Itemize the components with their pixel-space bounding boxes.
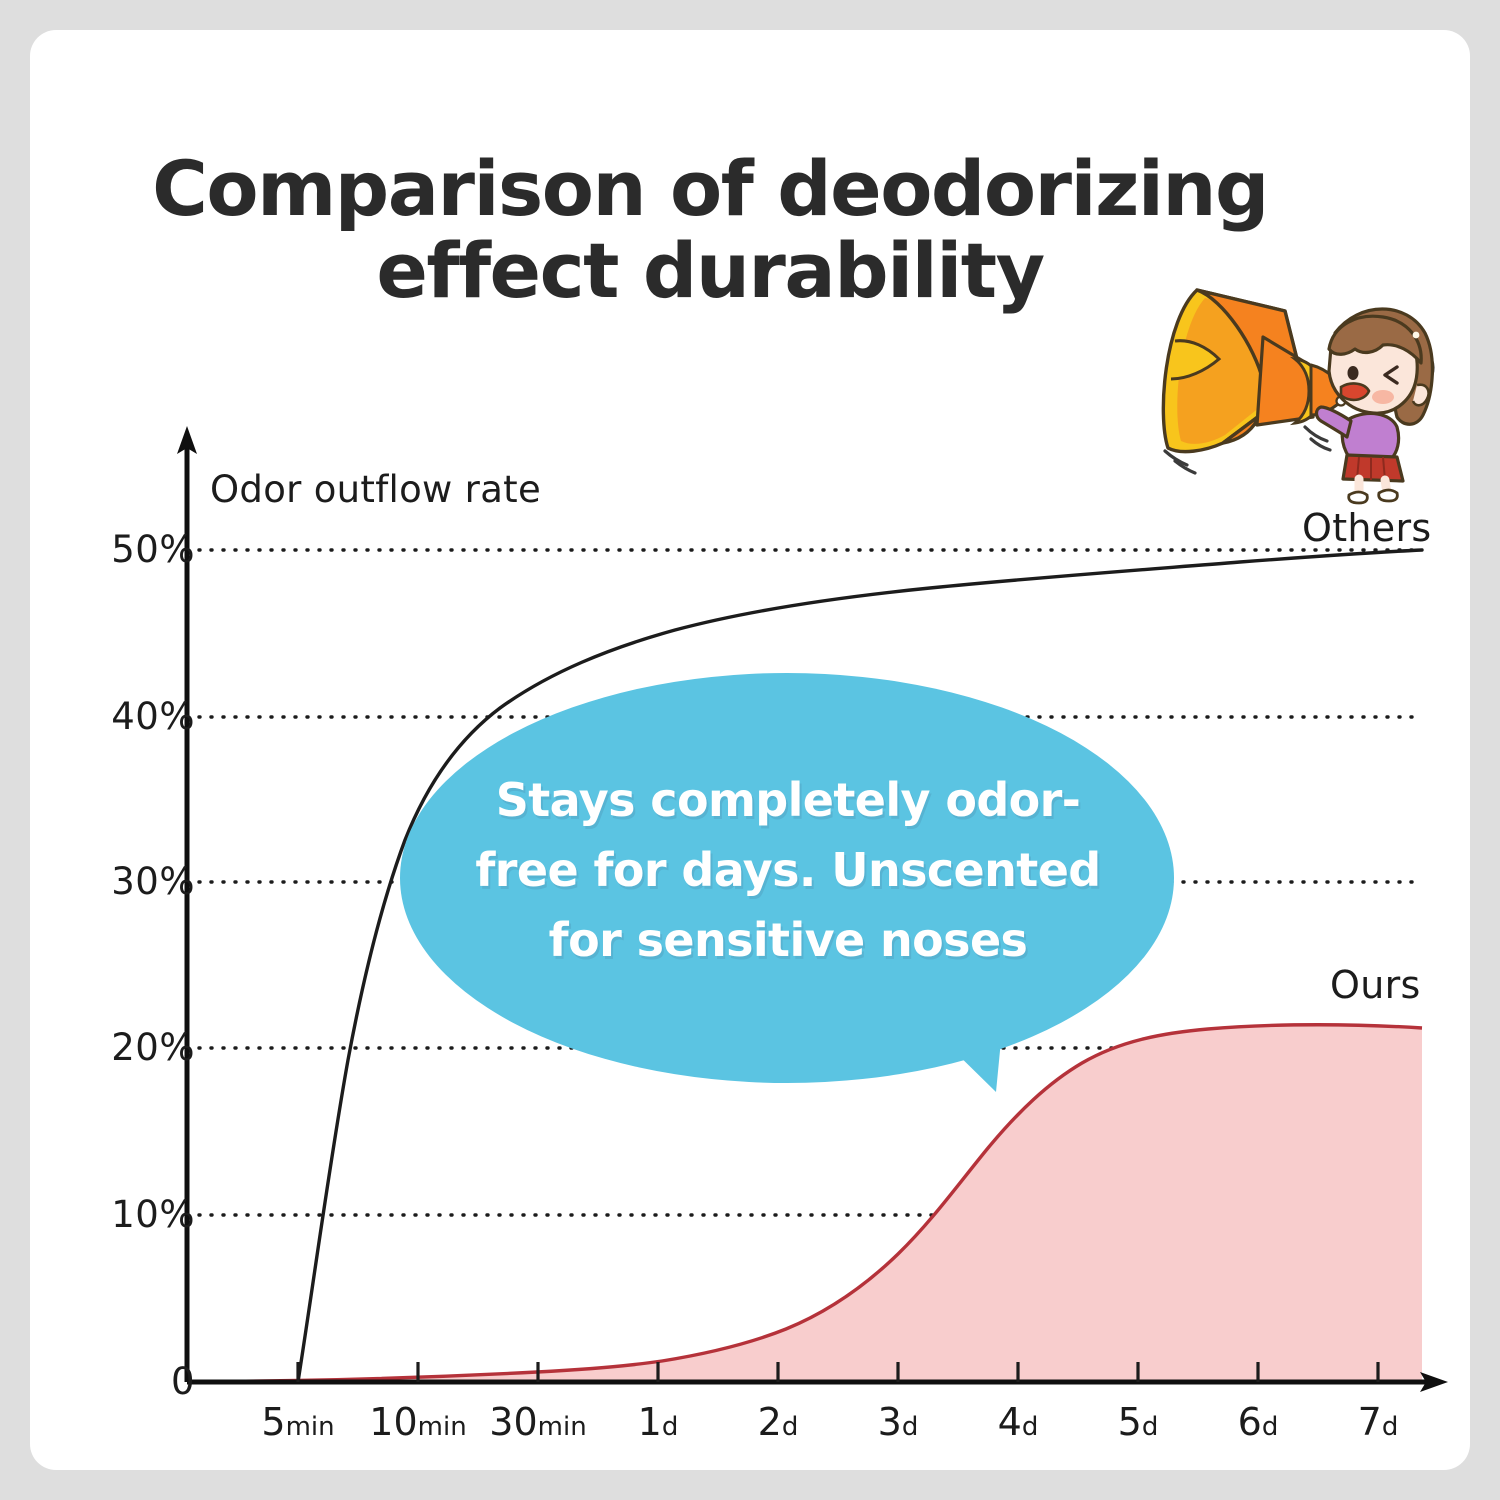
x-tick-number: 1 bbox=[638, 1400, 662, 1444]
x-tick-unit: d bbox=[902, 1412, 919, 1442]
y-tick-label-0: 0 bbox=[85, 1360, 195, 1403]
x-tick-unit: d bbox=[662, 1412, 679, 1442]
y-axis-title: Odor outflow rate bbox=[210, 468, 541, 511]
y-tick-label-30: 30% bbox=[85, 860, 195, 903]
x-tick-unit: d bbox=[1382, 1412, 1399, 1442]
x-tick-unit: d bbox=[1142, 1412, 1159, 1442]
y-tick-label-40: 40% bbox=[85, 695, 195, 738]
x-tick-unit: min bbox=[286, 1412, 335, 1442]
x-tick-number: 4 bbox=[998, 1400, 1022, 1444]
x-tick-number: 7 bbox=[1358, 1400, 1382, 1444]
chart-canvas bbox=[30, 30, 1470, 1470]
x-tick-number: 5 bbox=[261, 1400, 285, 1444]
x-tick-unit: d bbox=[1262, 1412, 1279, 1442]
callout-ellipse bbox=[400, 673, 1174, 1083]
x-tick-unit: d bbox=[782, 1412, 799, 1442]
y-tick-label-10: 10% bbox=[85, 1193, 195, 1236]
y-tick-label-20: 20% bbox=[85, 1026, 195, 1069]
x-tick-number: 30 bbox=[489, 1400, 537, 1444]
page-root: Comparison of deodorizing effect durabil… bbox=[0, 0, 1500, 1500]
x-tick-number: 10 bbox=[369, 1400, 417, 1444]
x-tick-number: 3 bbox=[878, 1400, 902, 1444]
callout-bubble bbox=[400, 673, 1174, 1092]
x-tick-number: 6 bbox=[1238, 1400, 1262, 1444]
x-tick-number: 5 bbox=[1118, 1400, 1142, 1444]
series-label-others: Others bbox=[1302, 506, 1432, 550]
y-tick-label-50: 50% bbox=[85, 528, 195, 571]
x-tick-unit: d bbox=[1022, 1412, 1039, 1442]
infographic-card: Comparison of deodorizing effect durabil… bbox=[30, 30, 1470, 1470]
x-tick-number: 2 bbox=[758, 1400, 782, 1444]
series-label-ours: Ours bbox=[1330, 963, 1421, 1007]
x-tick-label-7d: 7d bbox=[1298, 1400, 1458, 1444]
